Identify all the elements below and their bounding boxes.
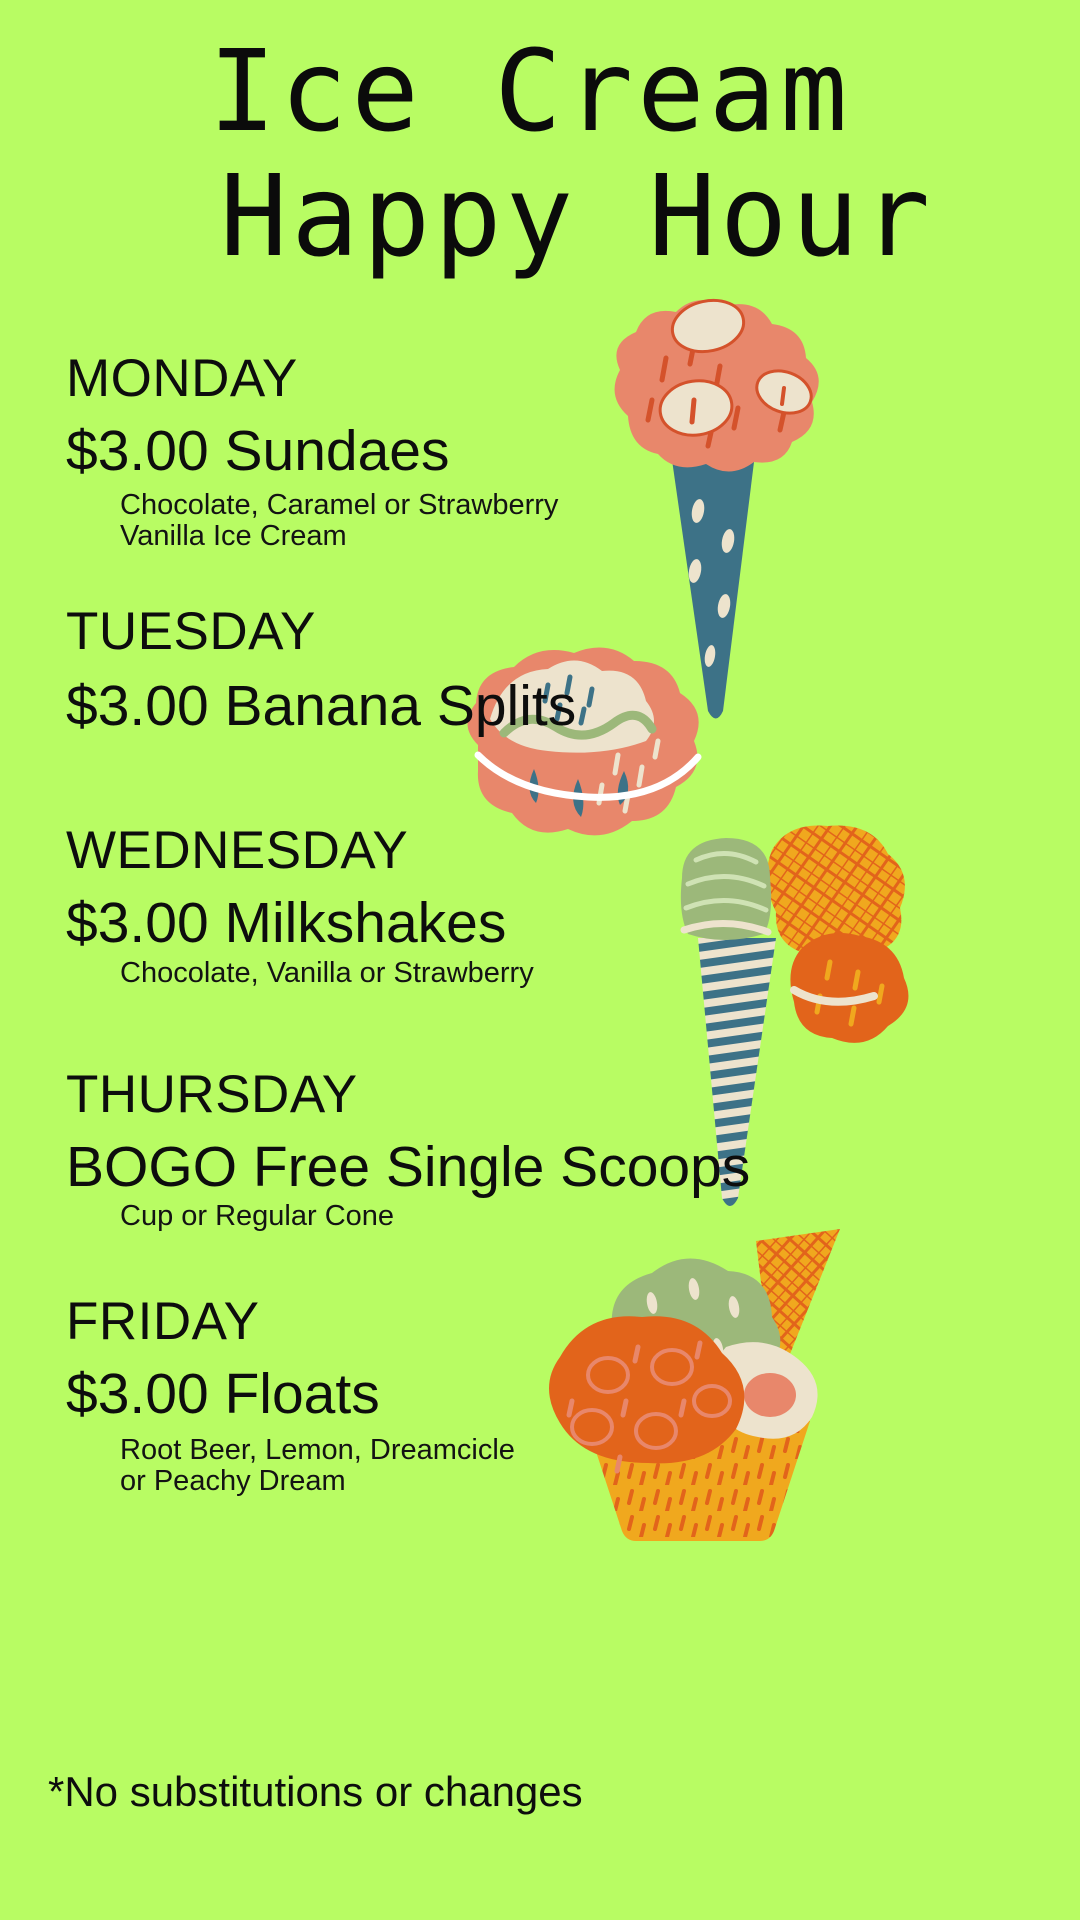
day-label-monday: MONDAY: [66, 352, 706, 406]
day-offer-tuesday: $3.00 Banana Splits: [66, 675, 706, 739]
deal-monday: MONDAY $3.00 Sundaes Chocolate, Caramel …: [66, 352, 706, 553]
deal-tuesday: TUESDAY $3.00 Banana Splits: [66, 605, 706, 739]
day-offer-friday: $3.00 Floats: [66, 1363, 706, 1427]
title-line-1: Ice Cream: [0, 30, 1080, 155]
title-line-2: Happy Hour: [0, 155, 1080, 280]
day-desc-wednesday: Chocolate, Vanilla or Strawberry: [120, 958, 706, 989]
day-label-wednesday: WEDNESDAY: [66, 824, 706, 878]
day-desc-thursday: Cup or Regular Cone: [120, 1201, 706, 1232]
day-desc-monday: Chocolate, Caramel or Strawberry Vanilla…: [120, 490, 706, 553]
poster-title: Ice Cream Happy Hour: [0, 30, 1080, 281]
deal-wednesday: WEDNESDAY $3.00 Milkshakes Chocolate, Va…: [66, 824, 706, 989]
deal-friday: FRIDAY $3.00 Floats Root Beer, Lemon, Dr…: [66, 1295, 706, 1498]
day-label-thursday: THURSDAY: [66, 1068, 706, 1122]
weekly-deal-list: MONDAY $3.00 Sundaes Chocolate, Caramel …: [66, 352, 706, 1497]
day-offer-wednesday: $3.00 Milkshakes: [66, 892, 706, 956]
footnote-no-substitutions: *No substitutions or changes: [48, 1768, 583, 1816]
day-label-tuesday: TUESDAY: [66, 605, 706, 659]
day-offer-thursday: BOGO Free Single Scoops: [66, 1136, 706, 1200]
day-offer-monday: $3.00 Sundaes: [66, 420, 706, 484]
deal-thursday: THURSDAY BOGO Free Single Scoops Cup or …: [66, 1068, 706, 1233]
day-desc-friday: Root Beer, Lemon, Dreamcicle or Peachy D…: [120, 1435, 706, 1498]
day-label-friday: FRIDAY: [66, 1295, 706, 1349]
